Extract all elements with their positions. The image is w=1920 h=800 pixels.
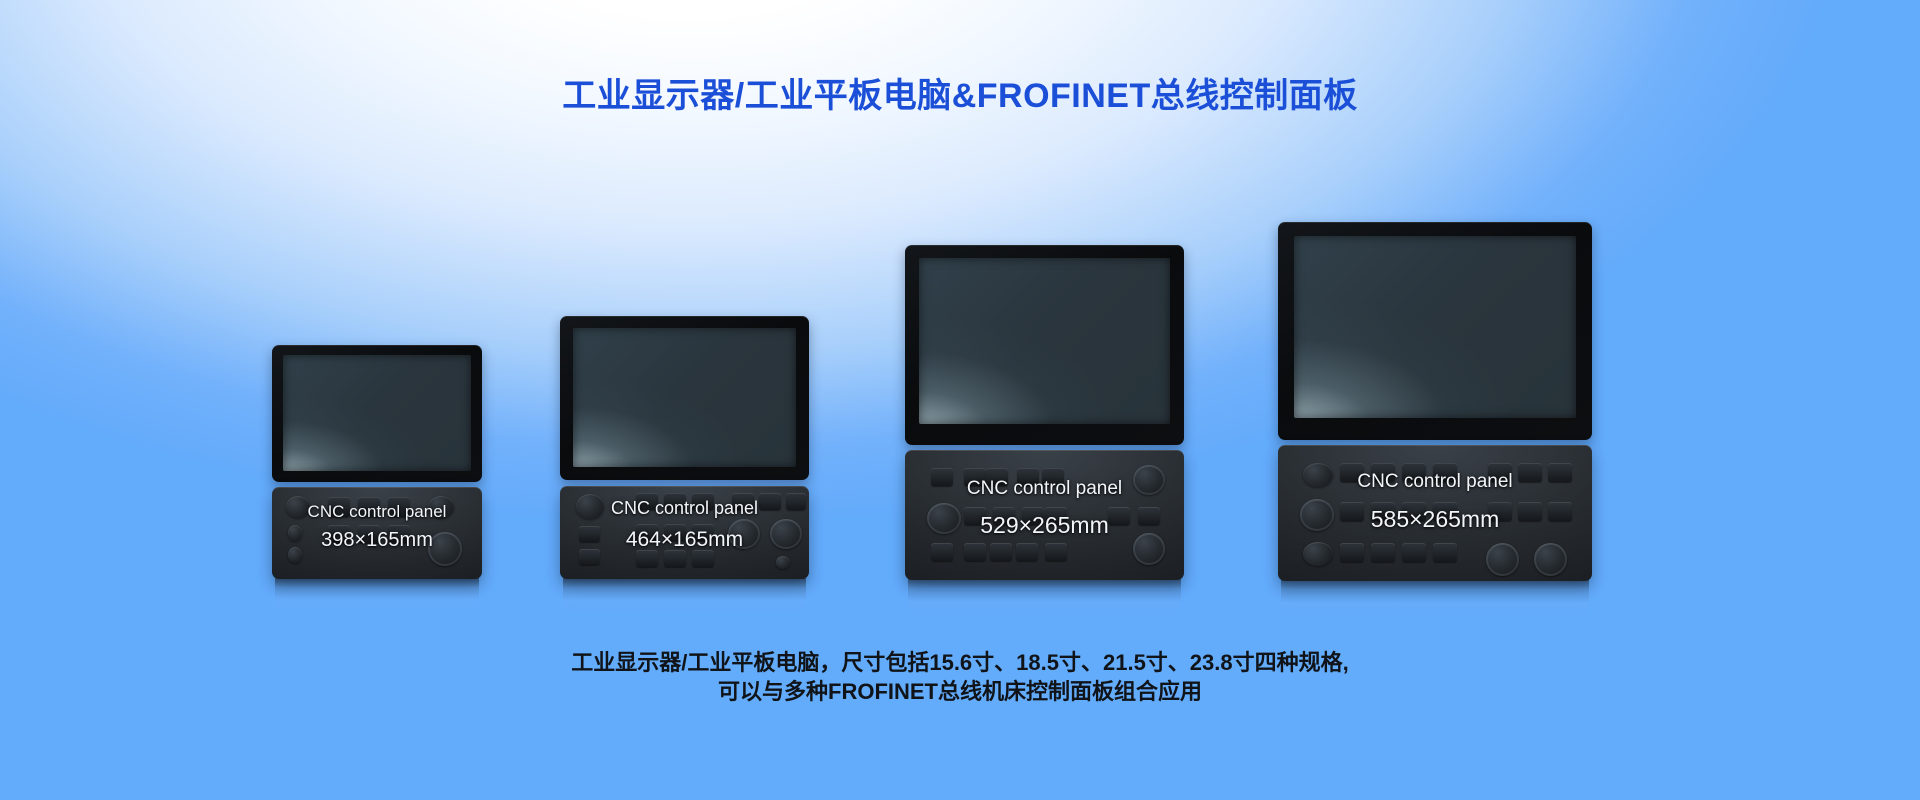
knob-icon[interactable]: [286, 496, 310, 518]
caption-line-2: 可以与多种FROFINET总线机床控制面板组合应用: [0, 677, 1920, 706]
knob-icon[interactable]: [770, 519, 802, 549]
keypad-button[interactable]: [1017, 468, 1039, 486]
poster-stage: 工业显示器/工业平板电脑&FROFINET总线控制面板: [0, 0, 1920, 800]
keypad-button[interactable]: [931, 543, 953, 561]
knob-icon[interactable]: [1133, 465, 1165, 495]
knob-icon[interactable]: [1486, 543, 1519, 576]
keypad-button[interactable]: [636, 493, 658, 510]
panel-reflection: [563, 578, 806, 614]
keypad-button[interactable]: [1548, 463, 1572, 482]
knob-icon[interactable]: [927, 503, 961, 534]
keypad-button[interactable]: [1108, 507, 1130, 525]
keypad-button[interactable]: [1371, 463, 1395, 482]
monitor-bezel: [560, 316, 809, 480]
product-panel-21-5[interactable]: CNC control panel 529×265mm: [905, 245, 1184, 580]
knob-icon[interactable]: [776, 556, 790, 569]
keypad-button[interactable]: [1022, 507, 1044, 525]
keypad-button[interactable]: [1402, 463, 1426, 482]
monitor-screen: [919, 258, 1170, 424]
monitor-screen: [1294, 236, 1576, 418]
keypad-button[interactable]: [1488, 502, 1512, 521]
caption-line-1: 工业显示器/工业平板电脑，尺寸包括15.6寸、18.5寸、21.5寸、23.8寸…: [0, 648, 1920, 677]
keypad-button[interactable]: [1016, 543, 1038, 561]
keypad-button[interactable]: [579, 549, 600, 565]
monitor-bezel: [272, 345, 482, 482]
keypad-button[interactable]: [1340, 502, 1364, 521]
keypad-button[interactable]: [1433, 463, 1457, 482]
knob-icon[interactable]: [288, 525, 302, 541]
keypad-button[interactable]: [1340, 543, 1364, 562]
panel-reflection: [908, 578, 1181, 616]
keypad-button[interactable]: [1433, 543, 1457, 562]
keypad-button[interactable]: [692, 550, 714, 567]
keypad-button[interactable]: [931, 468, 953, 486]
keypad-button[interactable]: [692, 524, 714, 541]
knob-icon[interactable]: [1300, 499, 1334, 531]
keypad-button[interactable]: [964, 543, 986, 561]
keypad-button[interactable]: [358, 497, 380, 517]
keypad-button[interactable]: [664, 550, 686, 567]
keypad-button[interactable]: [1548, 502, 1572, 521]
knob-icon[interactable]: [428, 532, 462, 566]
keypad-button[interactable]: [1042, 468, 1064, 486]
knob-icon[interactable]: [1534, 543, 1567, 576]
keypad-button[interactable]: [636, 524, 658, 541]
keypad-button[interactable]: [664, 493, 686, 510]
keypad-button[interactable]: [1488, 463, 1512, 482]
product-panel-18-5[interactable]: CNC control panel 464×165mm: [560, 316, 809, 580]
keypad-button[interactable]: [993, 507, 1015, 525]
monitor-screen: [573, 328, 796, 467]
monitor-bezel: [905, 245, 1184, 445]
knob-icon[interactable]: [1133, 533, 1165, 565]
knob-icon[interactable]: [428, 496, 454, 518]
keypad-button[interactable]: [990, 543, 1012, 561]
keypad-button[interactable]: [1518, 463, 1542, 482]
keypad-button[interactable]: [1371, 502, 1395, 521]
keypad-button[interactable]: [388, 525, 410, 543]
keypad-button[interactable]: [328, 497, 350, 517]
product-panel-23-8[interactable]: CNC control panel 585×265mm: [1278, 222, 1592, 580]
knob-icon[interactable]: [1303, 542, 1333, 566]
keypad-button[interactable]: [986, 468, 1008, 486]
keypad-button[interactable]: [328, 525, 350, 543]
control-panel-base[interactable]: CNC control panel 398×165mm: [272, 487, 482, 579]
panel-reflection: [1281, 578, 1589, 618]
keypad-button[interactable]: [964, 507, 986, 525]
keypad-button[interactable]: [1402, 543, 1426, 562]
panel-reflection: [275, 578, 479, 612]
keypad-button[interactable]: [1340, 463, 1364, 482]
keypad-button[interactable]: [1433, 502, 1457, 521]
keypad-button[interactable]: [1518, 502, 1542, 521]
control-panel-base[interactable]: CNC control panel 529×265mm: [905, 450, 1184, 580]
keypad-button[interactable]: [1045, 543, 1067, 561]
knob-icon[interactable]: [288, 547, 302, 563]
monitor-bezel: [1278, 222, 1592, 440]
product-panel-15-6[interactable]: CNC control panel 398×165mm: [272, 345, 482, 580]
knob-icon[interactable]: [576, 494, 604, 519]
keypad-button[interactable]: [664, 524, 686, 541]
keypad-button[interactable]: [1371, 543, 1395, 562]
knob-icon[interactable]: [728, 519, 760, 549]
keypad-button[interactable]: [636, 550, 658, 567]
keypad-button[interactable]: [1138, 507, 1160, 525]
knob-icon[interactable]: [1303, 463, 1333, 487]
keypad-button[interactable]: [1402, 502, 1426, 521]
keypad-button[interactable]: [732, 493, 754, 510]
keypad-button[interactable]: [579, 526, 600, 542]
control-panel-base[interactable]: CNC control panel 464×165mm: [560, 486, 809, 579]
keypad-button[interactable]: [1045, 507, 1067, 525]
keypad-button[interactable]: [692, 493, 714, 510]
keypad-button[interactable]: [358, 525, 380, 543]
caption-block: 工业显示器/工业平板电脑，尺寸包括15.6寸、18.5寸、21.5寸、23.8寸…: [0, 648, 1920, 707]
control-panel-base[interactable]: CNC control panel 585×265mm: [1278, 445, 1592, 581]
monitor-screen: [283, 355, 471, 471]
keypad-button[interactable]: [964, 468, 986, 486]
keypad-button[interactable]: [388, 497, 410, 517]
keypad-button[interactable]: [759, 493, 781, 510]
keypad-button[interactable]: [786, 493, 806, 510]
